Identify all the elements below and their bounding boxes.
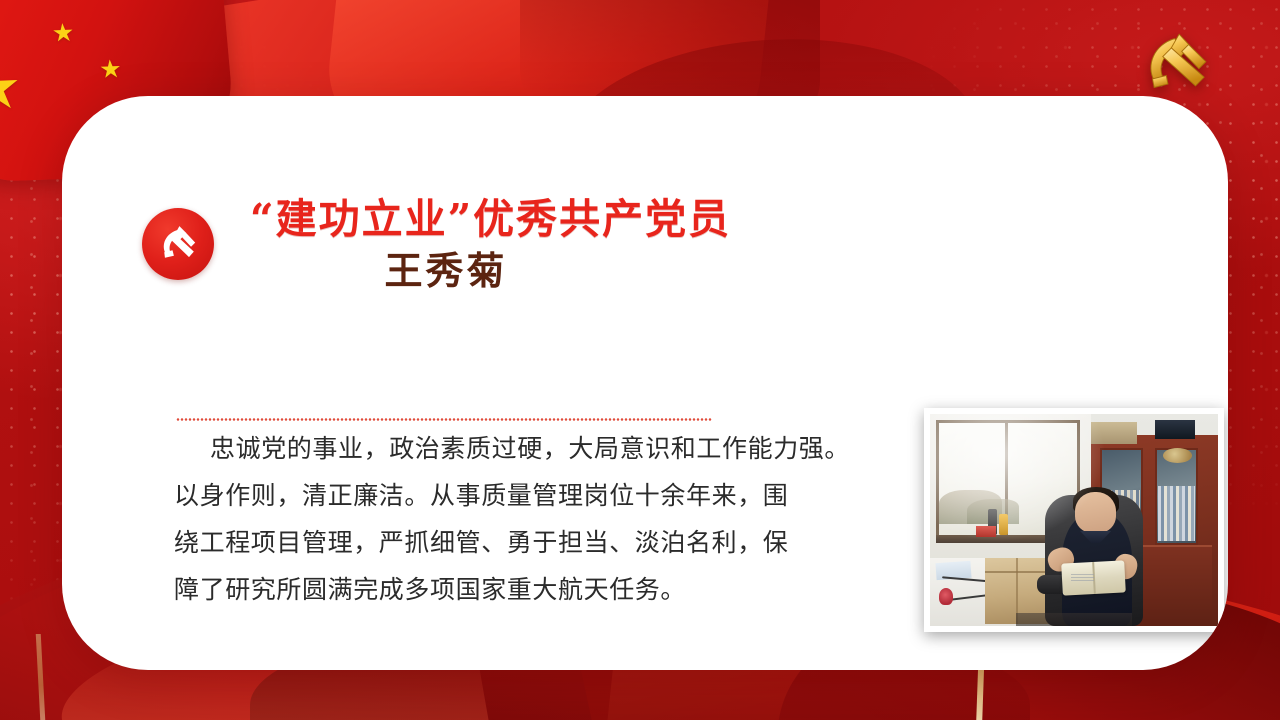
photo-book-text: [1071, 574, 1094, 582]
body-line-4: 障了研究所圆满完成多项国家重大航天任务。: [174, 567, 914, 614]
body-line-2: 以身作则，清正廉洁。从事质量管理岗位十余年来，围: [174, 473, 914, 520]
flag-star-small-2: ★: [98, 57, 123, 83]
flag-star-large: ★: [0, 57, 25, 121]
photo-floor: [1016, 613, 1131, 626]
body-line-1: 忠诚党的事业，政治素质过硬，大局意识和工作能力强。: [174, 426, 914, 473]
person-photo-frame: [924, 408, 1224, 632]
content-card: “建功立业”优秀共产党员 王秀菊 忠诚党的事业，政治素质过硬，大局意识和工作能力…: [62, 96, 1228, 670]
dotted-divider: [176, 418, 712, 421]
page-title: “建功立业”优秀共产党员: [250, 194, 762, 244]
photo-flower: [939, 588, 953, 605]
photo-books-shelf-2: [1158, 486, 1195, 541]
title-block: “建功立业”优秀共产党员 王秀菊: [250, 194, 762, 294]
hammer-sickle-icon: [142, 208, 214, 280]
person-photo: [930, 414, 1218, 626]
photo-window-glow: [930, 414, 1109, 545]
body-paragraph: 忠诚党的事业，政治素质过硬，大局意识和工作能力强。 以身作则，清正廉洁。从事质量…: [174, 426, 914, 614]
hammer-sickle-gold-icon: [1132, 24, 1228, 96]
flag-star-small-1: ★: [51, 21, 76, 47]
header-block: “建功立业”优秀共产党员 王秀菊: [102, 194, 762, 294]
photo-cabinet-top-dark-box: [1155, 420, 1195, 439]
person-name: 王秀菊: [250, 248, 762, 294]
slide-root: ★ ★ ★ ★ ★: [0, 0, 1280, 720]
body-line-3: 绕工程项目管理，严抓细管、勇于担当、淡泊名利，保: [174, 520, 914, 567]
gold-accent-line-left: [36, 634, 46, 720]
photo-award-plaque: [1163, 448, 1192, 463]
